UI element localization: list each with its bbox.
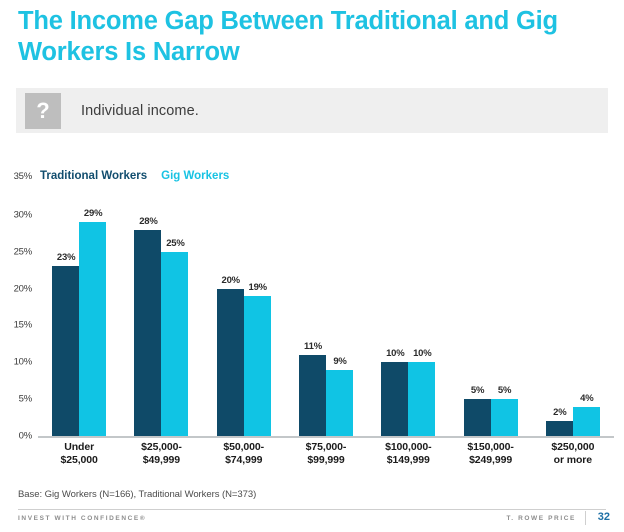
bar-value-label: 9% — [325, 356, 355, 367]
x-axis-tick-label: $150,000-$249,999 — [449, 441, 531, 468]
footer-tagline: INVEST WITH CONFIDENCE® — [18, 515, 146, 522]
x-axis-tick-label: $100,000-$149,999 — [367, 441, 449, 468]
bar-gig — [79, 222, 106, 436]
y-axis-tick-label: 5% — [0, 394, 32, 405]
bar-value-label: 2% — [545, 407, 575, 418]
x-axis-tick-label: $25,000-$49,999 — [120, 441, 202, 468]
y-axis-tick-label: 20% — [0, 283, 32, 294]
bar-traditional — [52, 266, 79, 436]
x-axis-tick-label: $250,000or more — [532, 441, 614, 468]
bar-group: 11%9% — [299, 178, 353, 436]
bar-group: 5%5% — [464, 178, 518, 436]
bar-gig — [161, 252, 188, 436]
bar-value-label: 10% — [407, 348, 437, 359]
x-axis-tick-label: Under$25,000 — [38, 441, 120, 468]
page-title: The Income Gap Between Traditional and G… — [18, 6, 598, 68]
bar-group: 10%10% — [381, 178, 435, 436]
bar-traditional — [546, 421, 573, 436]
y-axis-tick-label: 15% — [0, 320, 32, 331]
footer-vertical-divider — [585, 511, 586, 525]
bar-gig — [326, 370, 353, 436]
bar-group: 28%25% — [134, 178, 188, 436]
bar-value-label: 29% — [78, 208, 108, 219]
y-axis-tick-label: 0% — [0, 431, 32, 442]
x-axis: Under$25,000$25,000-$49,999$50,000-$74,9… — [38, 441, 614, 475]
y-axis-tick-label: 10% — [0, 357, 32, 368]
bar-group: 23%29% — [52, 178, 106, 436]
base-note: Base: Gig Workers (N=166), Traditional W… — [18, 489, 256, 500]
bar-gig — [244, 296, 271, 436]
question-band: ? Individual income. — [16, 88, 608, 133]
question-text: Individual income. — [81, 103, 199, 119]
bar-value-label: 10% — [380, 348, 410, 359]
bar-value-label: 4% — [572, 393, 602, 404]
bar-traditional — [464, 399, 491, 436]
bar-gig — [491, 399, 518, 436]
bar-value-label: 11% — [298, 341, 328, 352]
x-axis-tick-label: $50,000-$74,999 — [203, 441, 285, 468]
bar-value-label: 20% — [216, 275, 246, 286]
bar-value-label: 28% — [133, 216, 163, 227]
y-axis-tick-label: 30% — [0, 209, 32, 220]
bars-layer: 23%29%28%25%20%19%11%9%10%10%5%5%2%4% — [38, 178, 614, 436]
footer-divider-rule — [18, 509, 606, 510]
bar-value-label: 5% — [463, 385, 493, 396]
bar-value-label: 19% — [243, 282, 273, 293]
y-axis-tick-label: 25% — [0, 246, 32, 257]
bar-group: 2%4% — [546, 178, 600, 436]
bar-value-label: 25% — [160, 238, 190, 249]
bar-traditional — [134, 230, 161, 436]
bar-traditional — [217, 289, 244, 436]
page-number: 32 — [598, 511, 610, 523]
x-axis-tick-label: $75,000-$99,999 — [285, 441, 367, 468]
bar-gig — [408, 362, 435, 436]
question-mark-icon: ? — [25, 93, 61, 129]
axis-baseline — [38, 436, 614, 438]
bar-value-label: 5% — [490, 385, 520, 396]
bar-traditional — [381, 362, 408, 436]
bar-value-label: 23% — [51, 252, 81, 263]
chart-plot-area: 30%25%20%15%10%5%0% 23%29%28%25%20%19%11… — [0, 178, 624, 436]
footer-brand: T. ROWE PRICE — [506, 515, 576, 522]
bar-traditional — [299, 355, 326, 436]
bar-gig — [573, 407, 600, 436]
bar-group: 20%19% — [217, 178, 271, 436]
